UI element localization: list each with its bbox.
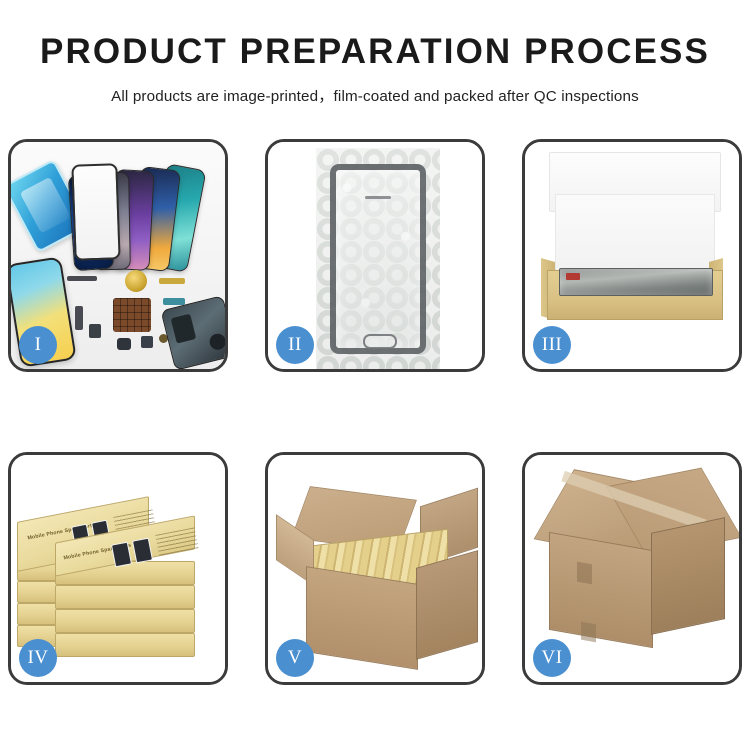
page-title: PRODUCT PREPARATION PROCESS [0,34,750,71]
spare-parts-group [67,268,225,369]
step-3-badge: III [533,326,571,364]
product-preparation-infographic: PRODUCT PREPARATION PROCESS All products… [0,0,750,750]
carton-side-face-icon [416,550,478,660]
process-step-2[interactable]: II [265,139,485,372]
step-4-badge: IV [19,639,57,677]
process-step-grid: I II III [8,139,742,685]
carton-front-face-icon [549,532,653,648]
stacked-box-icon [55,609,195,633]
sim-tray-icon [89,324,101,338]
header: PRODUCT PREPARATION PROCESS All products… [0,34,750,106]
step-6-badge: VI [533,639,571,677]
box-stack-group: Mobile Phone Spare Parts Mobile Phone Sp… [17,473,223,669]
step-2-badge: II [276,326,314,364]
step-5-badge: V [276,639,314,677]
vibrator-motor-icon [141,336,153,348]
process-step-3[interactable]: III [522,139,742,372]
packed-screen-icon [559,268,713,296]
stacked-box-icon [55,585,195,609]
antenna-strip-icon [67,276,97,281]
earpiece-slot-icon [73,165,115,166]
process-step-6[interactable]: VI [522,452,742,685]
process-step-4[interactable]: Mobile Phone Spare Parts Mobile Phone Sp… [8,452,228,685]
speaker-module-icon [117,338,131,350]
earpiece-slot-icon [365,196,391,199]
flex-cable-icon [159,278,185,284]
step-1-badge: I [19,326,57,364]
wrapped-screen-icon [330,164,426,354]
connector-cable-icon [163,298,185,305]
carton-side-face-icon [651,517,725,635]
stacked-box-icon [55,633,195,657]
camera-module-icon [125,270,147,292]
logic-board-icon [160,295,225,369]
process-step-5[interactable]: V [265,452,485,685]
button-flex-icon [75,306,83,330]
page-subtitle: All products are image-printed，film-coat… [0,84,750,106]
carton-tab-upper-icon [577,562,592,585]
chip-array-icon [113,298,151,332]
front-glass-panel-icon [71,163,120,261]
foam-insert-icon [555,194,715,278]
carton-front-face-icon [306,566,418,670]
process-step-1[interactable]: I [8,139,228,372]
carton-tab-lower-icon [581,622,596,643]
